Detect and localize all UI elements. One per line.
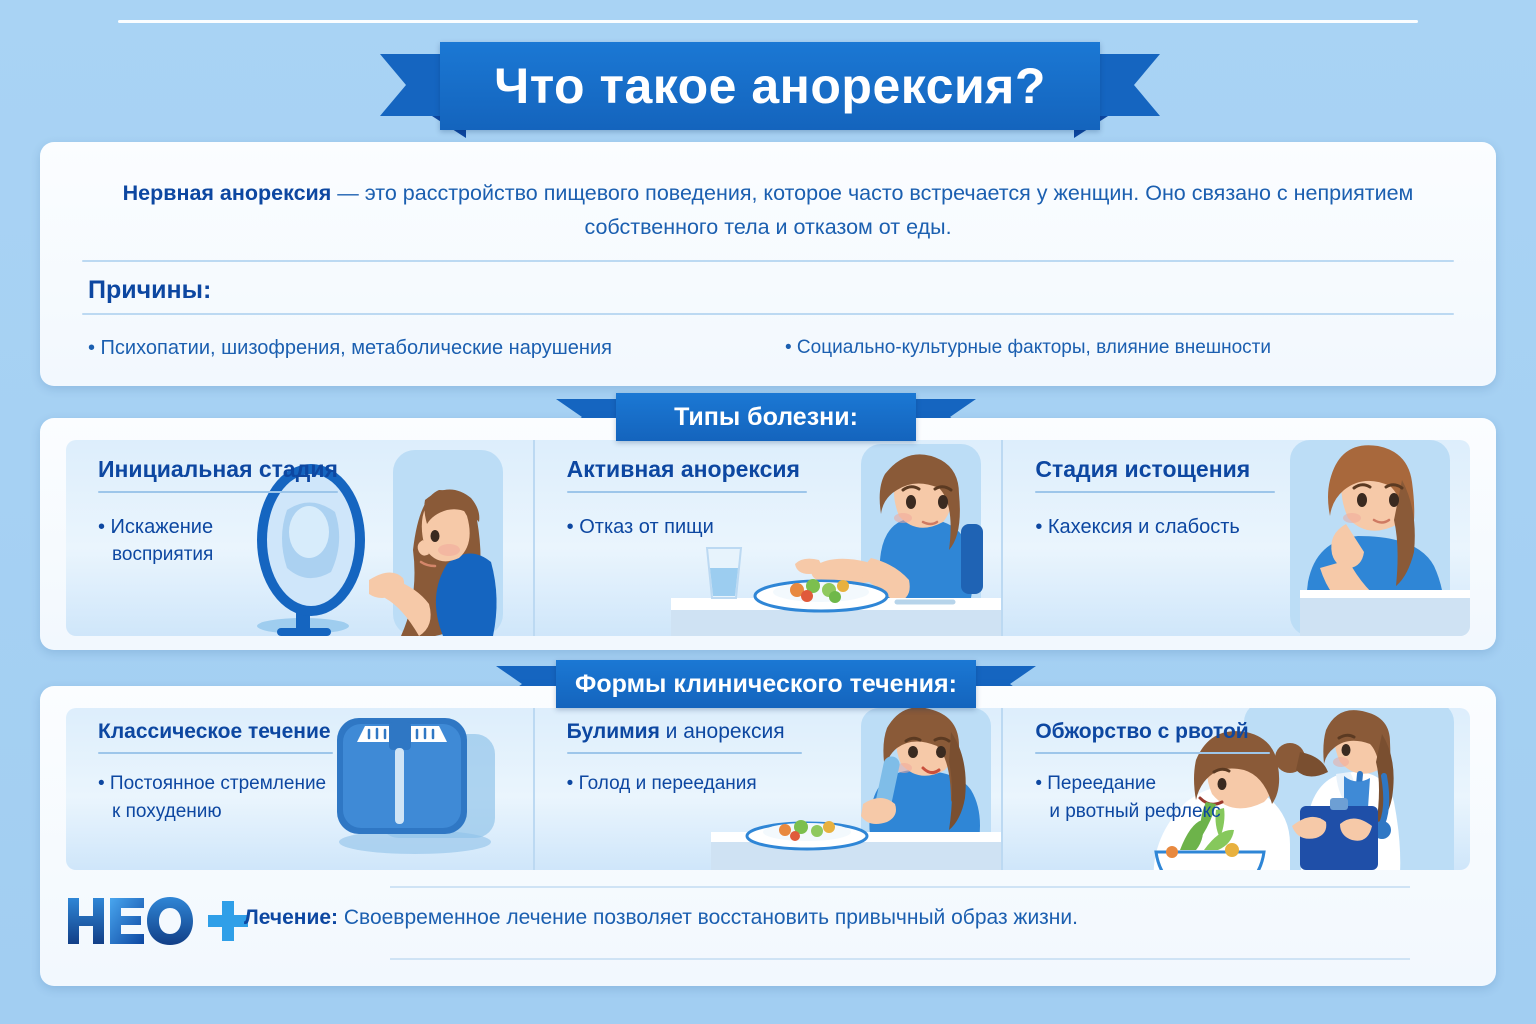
intro-body: — это расстройство пищевого поведения, к… xyxy=(331,181,1413,239)
neo-logo-mark xyxy=(66,894,202,948)
ribbon-tail-left xyxy=(380,54,446,116)
treatment-label: Лечение: xyxy=(244,906,338,929)
reasons-divider xyxy=(82,313,1454,315)
forms-panel-row: Классическое течение • Постоянное стремл… xyxy=(66,708,1470,870)
type-bullet: • Отказ от пищи xyxy=(567,513,867,541)
treatment-body: Своевременное лечение позволяет восстано… xyxy=(338,906,1078,929)
type-heading: Активная анорексия xyxy=(535,440,1002,483)
intro-paragraph: Нервная анорексия — это расстройство пищ… xyxy=(40,142,1496,244)
heading-underline xyxy=(1035,752,1270,754)
top-divider xyxy=(118,20,1418,23)
reasons-list: • Психопатии, шизофрения, метаболические… xyxy=(40,337,1496,360)
form-heading: Обжорство с рвотой xyxy=(1003,708,1470,744)
forms-banner-label: Формы клинического течения: xyxy=(556,660,976,708)
heading-underline xyxy=(567,752,802,754)
form-panel-classic[interactable]: Классическое течение • Постоянное стремл… xyxy=(66,708,533,870)
form-bullet: • Голод и переедания xyxy=(567,770,867,798)
form-bullet: • Постоянное стремление к похудению xyxy=(98,770,398,826)
type-heading: Стадия истощения xyxy=(1003,440,1470,483)
intro-lead: Нервная анорексия xyxy=(123,181,332,205)
neo-logo xyxy=(66,894,251,948)
treatment-bar: Лечение: Своевременное лечение позволяет… xyxy=(66,880,1470,966)
type-bullet: • Искажение восприятия xyxy=(98,513,398,569)
type-panel-exhaustion[interactable]: Стадия истощения • Кахексия и слабость xyxy=(1001,440,1470,636)
form-bullet: • Переедание и рвотный рефлекс xyxy=(1035,770,1335,826)
reason-item-1: • Психопатии, шизофрения, метаболические… xyxy=(88,337,751,360)
type-panel-initial[interactable]: Инициальная стадия • Искажение восприяти… xyxy=(66,440,533,636)
type-heading: Инициальная стадия xyxy=(66,440,533,483)
intro-card: Нервная анорексия — это расстройство пищ… xyxy=(40,142,1496,386)
heading-underline xyxy=(567,491,807,493)
form-panel-bulimia[interactable]: Булимия и анорексия • Голод и переедания xyxy=(533,708,1002,870)
form-panel-binge-vomit[interactable]: Обжорство с рвотой • Переедание и рвотны… xyxy=(1001,708,1470,870)
form-heading: Булимия и анорексия xyxy=(535,708,1002,744)
heading-underline xyxy=(1035,491,1275,493)
title-banner: Что такое анорексия? xyxy=(380,42,1160,146)
heading-underline xyxy=(98,752,333,754)
reasons-heading: Причины: xyxy=(40,262,1496,305)
types-banner-label: Типы болезни: xyxy=(616,393,916,441)
type-bullet: • Кахексия и слабость xyxy=(1035,513,1335,541)
reason-item-2: • Социально-культурные факторы, влияние … xyxy=(751,337,1448,360)
types-panel-row: Инициальная стадия • Искажение восприяти… xyxy=(66,440,1470,636)
heading-underline xyxy=(98,491,338,493)
ribbon-tail-right xyxy=(1094,54,1160,116)
type-panel-active[interactable]: Активная анорексия • Отказ от пищи xyxy=(533,440,1002,636)
page-title: Что такое анорексия? xyxy=(440,42,1100,130)
form-heading: Классическое течение xyxy=(66,708,533,744)
treatment-text: Лечение: Своевременное лечение позволяет… xyxy=(244,906,1078,930)
